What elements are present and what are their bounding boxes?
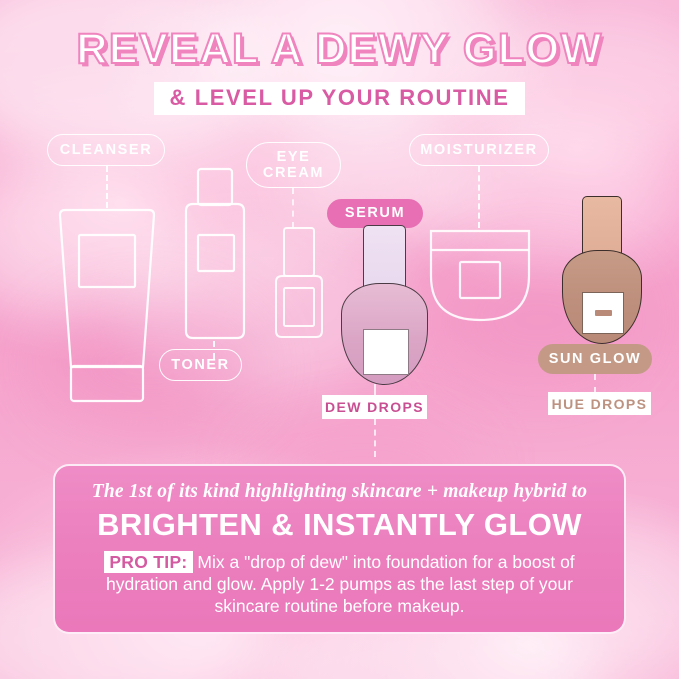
step-pill-eye-cream-label-line2: CREAM [263,165,324,181]
step-pill-eye-cream[interactable]: EYE CREAM [246,142,341,188]
product-illustration-serum [341,225,426,385]
promo-card: The 1st of its kind highlighting skincar… [53,464,626,634]
serum-cap [363,225,406,288]
product-tag-dew-drops[interactable]: DEW DROPS [322,395,427,419]
poster-canvas: REVEAL A DEWY GLOW & LEVEL UP YOUR ROUTI… [0,0,679,679]
connector-cleanser [106,166,108,208]
moisturizer-jar-icon [429,228,531,328]
step-pill-sun-glow[interactable]: SUN GLOW [538,344,652,374]
sun-glow-label [582,292,624,334]
connector-eye-cream [292,188,294,228]
step-pill-sun-glow-label: SUN GLOW [549,351,642,367]
step-pill-toner[interactable]: TONER [159,349,242,381]
connector-dew-drops-to-card [374,419,376,457]
product-tag-hue-drops[interactable]: HUE DROPS [548,392,651,415]
sun-glow-label-mark [595,310,612,316]
serum-label [363,329,409,375]
page-subtitle: & LEVEL UP YOUR ROUTINE [154,82,526,115]
product-illustration-sun-glow [562,196,640,344]
step-pill-cleanser-label: CLEANSER [60,142,153,158]
page-title: REVEAL A DEWY GLOW [0,28,679,71]
step-pill-toner-label: TONER [171,357,230,373]
headline-container: REVEAL A DEWY GLOW [0,28,679,71]
toner-bottle-icon [175,167,255,347]
sun-glow-cap [582,196,622,255]
promo-script-line: The 1st of its kind highlighting skincar… [55,482,624,502]
promo-headline: BRIGHTEN & INSTANTLY GLOW [55,509,624,540]
eye-cream-bottle-icon [271,226,327,341]
step-pill-serum[interactable]: SERUM [327,199,423,228]
step-pill-moisturizer[interactable]: MOISTURIZER [409,134,549,166]
connector-sun-glow [594,374,596,393]
pro-tip-badge: PRO TIP: [104,551,192,573]
step-pill-serum-label: SERUM [345,205,405,221]
subheadline-container: & LEVEL UP YOUR ROUTINE [0,82,679,115]
product-tag-dew-drops-label: DEW DROPS [325,399,424,415]
step-pill-eye-cream-label-line1: EYE [277,149,311,165]
product-illustration-eye-cream [271,226,323,336]
product-tag-hue-drops-label: HUE DROPS [552,396,648,412]
promo-body: PRO TIP: Mix a "drop of dew" into founda… [55,551,624,617]
product-illustration-toner [175,167,253,342]
connector-moisturizer [478,166,480,228]
step-pill-cleanser[interactable]: CLEANSER [47,134,165,166]
product-illustration-cleanser [57,207,157,397]
product-illustration-moisturizer [429,228,529,323]
cleanser-tube-icon [57,207,157,403]
step-pill-moisturizer-label: MOISTURIZER [420,142,538,158]
